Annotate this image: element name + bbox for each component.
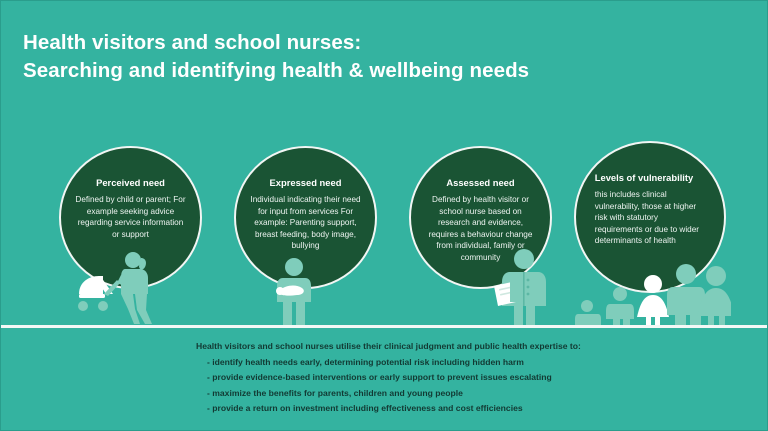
horizontal-divider xyxy=(1,325,768,328)
footer-item-4: - provide a return on investment includi… xyxy=(196,401,736,417)
circle-heading-levels-of-vulnerability: Levels of vulnerability xyxy=(595,171,707,184)
circle-body-levels-of-vulnerability: this includes clinical vulnerability, th… xyxy=(595,189,707,247)
circle-body-perceived-need: Defined by child or parent; For example … xyxy=(74,194,188,240)
woman-holding-baby-icon xyxy=(263,256,325,326)
footer-intro-line: Health visitors and school nurses utilis… xyxy=(196,339,736,355)
woman-pushing-pram-icon xyxy=(73,250,173,326)
circle-heading-expressed-need: Expressed need xyxy=(249,176,363,189)
circle-heading-perceived-need: Perceived need xyxy=(74,176,188,189)
family-group-icon xyxy=(573,256,731,326)
footer-item-2: - provide evidence-based interventions o… xyxy=(196,370,736,386)
footer-text-block: Health visitors and school nurses utilis… xyxy=(196,339,736,417)
circle-heading-assessed-need: Assessed need xyxy=(424,176,538,189)
footer-item-1: - identify health needs early, determini… xyxy=(196,355,736,371)
circle-body-expressed-need: Individual indicating their need for inp… xyxy=(249,194,363,252)
infographic-poster: Health visitors and school nurses: Searc… xyxy=(0,0,768,431)
needs-circles-row: Perceived need Defined by child or paren… xyxy=(1,1,768,326)
nurse-with-clipboard-icon xyxy=(486,248,558,326)
footer-item-3: - maximize the benefits for parents, chi… xyxy=(196,386,736,402)
